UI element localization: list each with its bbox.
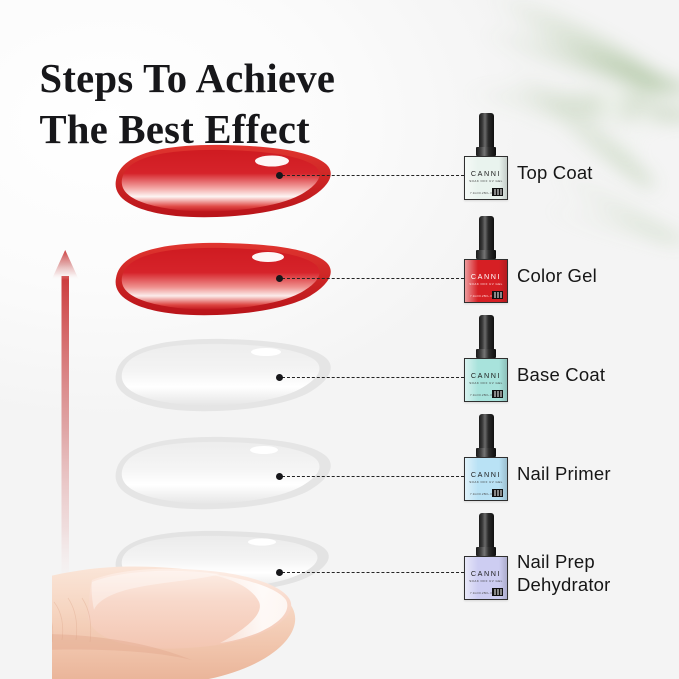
fingertip-illustration	[52, 516, 342, 679]
bottle-tagline-text: SOAK OFF UV GEL	[466, 381, 506, 385]
bottle-capacity-text: 7.3ml/0.25FL.OZ	[470, 393, 495, 397]
bottle-brand-text: CANNI	[465, 470, 507, 479]
page-title: Steps To Achieve The Best Effect	[39, 53, 335, 155]
connector-dot-nail-prep	[276, 569, 283, 576]
connector-line-color-gel	[282, 278, 464, 279]
step-label-base-coat: Base Coat	[517, 364, 605, 387]
bottle-cap	[479, 414, 494, 457]
bottle-cap	[479, 113, 494, 156]
bottle-body: CANNI SOAK OFF UV GEL 7.3ml/0.25FL.OZ	[464, 156, 508, 200]
barcode-icon	[492, 588, 503, 596]
bottle-capacity-text: 7.3ml/0.25FL.OZ	[470, 191, 495, 195]
barcode-icon	[492, 489, 503, 497]
bottle-tagline-text: SOAK OFF UV GEL	[466, 282, 506, 286]
product-bottle-base-coat[interactable]: CANNI SOAK OFF UV GEL 7.3ml/0.25FL.OZ	[464, 315, 508, 402]
product-bottle-nail-prep-dehydrator[interactable]: CANNI SOAK OFF UV GEL 7.3ml/0.25FL.OZ	[464, 513, 508, 600]
step-label-top-coat: Top Coat	[517, 162, 593, 185]
connector-line-base-coat	[282, 377, 464, 378]
bottle-body: CANNI SOAK OFF UV GEL 7.3ml/0.25FL.OZ	[464, 457, 508, 501]
bottle-capacity-text: 7.3ml/0.25FL.OZ	[470, 591, 495, 595]
palm-frond-icon	[517, 75, 679, 128]
step-label-nail-primer: Nail Primer	[517, 463, 611, 486]
barcode-icon	[492, 390, 503, 398]
leaf-bokeh-icon	[599, 90, 627, 118]
bottle-brand-text: CANNI	[465, 169, 507, 178]
bottle-tagline-text: SOAK OFF UV GEL	[466, 179, 506, 183]
step-label-nail-prep-dehydrator: Nail Prep Dehydrator	[517, 551, 611, 597]
bottle-capacity-text: 7.3ml/0.25FL.OZ	[470, 294, 495, 298]
palm-frond-icon	[537, 200, 679, 249]
nail-layer-color-gel	[104, 240, 344, 320]
connector-line-nail-prep	[282, 572, 464, 573]
nail-layer-nail-primer	[104, 434, 344, 514]
leaf-bokeh-icon	[635, 110, 655, 130]
product-bottle-nail-primer[interactable]: CANNI SOAK OFF UV GEL 7.3ml/0.25FL.OZ	[464, 414, 508, 501]
infographic-canvas: Steps To Achieve The Best Effect	[0, 0, 679, 679]
product-bottle-top-coat[interactable]: CANNI SOAK OFF UV GEL 7.3ml/0.25FL.OZ	[464, 113, 508, 200]
product-bottle-color-gel[interactable]: CANNI SOAK OFF UV GEL 7.3ml/0.25FL.OZ	[464, 216, 508, 303]
bottle-body: CANNI SOAK OFF UV GEL 7.3ml/0.25FL.OZ	[464, 556, 508, 600]
bottle-tagline-text: SOAK OFF UV GEL	[466, 579, 506, 583]
palm-frond-icon	[476, 20, 679, 102]
bottle-tagline-text: SOAK OFF UV GEL	[466, 480, 506, 484]
barcode-icon	[492, 188, 503, 196]
palm-frond-icon	[483, 0, 672, 98]
connector-dot-base-coat	[276, 374, 283, 381]
bottle-brand-text: CANNI	[465, 371, 507, 380]
bottle-brand-text: CANNI	[465, 272, 507, 281]
leaf-bokeh-icon	[621, 136, 637, 152]
bottle-body: CANNI SOAK OFF UV GEL 7.3ml/0.25FL.OZ	[464, 259, 508, 303]
bottle-cap	[479, 216, 494, 259]
bottle-body: CANNI SOAK OFF UV GEL 7.3ml/0.25FL.OZ	[464, 358, 508, 402]
nail-layer-top-coat	[104, 142, 344, 222]
connector-dot-top-coat	[276, 172, 283, 179]
connector-line-top-coat	[282, 175, 464, 176]
nail-layer-base-coat	[104, 336, 344, 416]
connector-line-nail-primer	[282, 476, 464, 477]
bottle-cap	[479, 513, 494, 556]
barcode-icon	[492, 291, 503, 299]
bottle-brand-text: CANNI	[465, 569, 507, 578]
step-label-color-gel: Color Gel	[517, 265, 597, 288]
bottle-capacity-text: 7.3ml/0.25FL.OZ	[470, 492, 495, 496]
bottle-cap	[479, 315, 494, 358]
connector-dot-color-gel	[276, 275, 283, 282]
connector-dot-nail-primer	[276, 473, 283, 480]
